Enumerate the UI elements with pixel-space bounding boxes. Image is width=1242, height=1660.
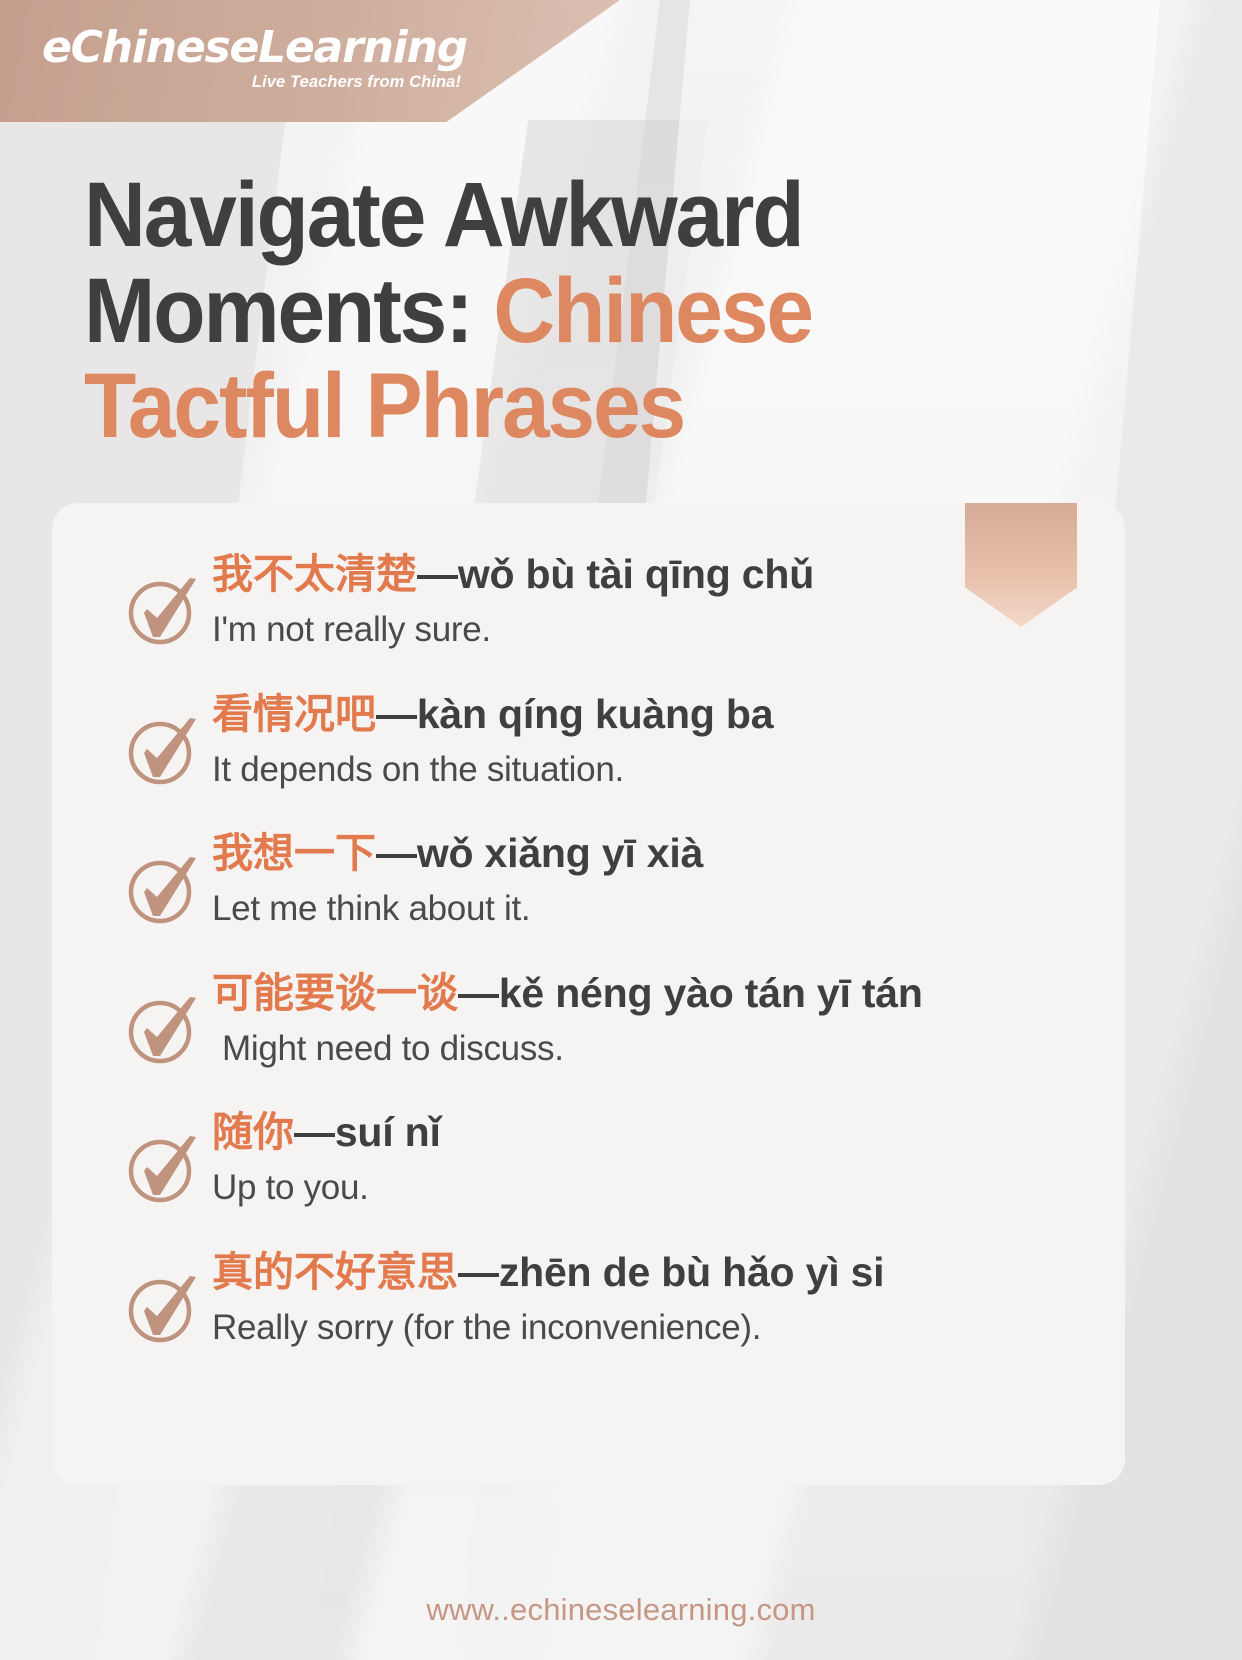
- phrase-translation: Might need to discuss.: [212, 1026, 1125, 1072]
- logo-tagline: Live Teachers from China!: [42, 73, 467, 92]
- phrase-translation: Really sorry (for the inconvenience).: [212, 1305, 1125, 1351]
- list-item-texts: 真的不好意思—zhēn de bù hǎo yì si Really sorry…: [212, 1245, 1125, 1351]
- phrase-line: 真的不好意思—zhēn de bù hǎo yì si: [212, 1247, 1125, 1297]
- list-item: 真的不好意思—zhēn de bù hǎo yì si Really sorry…: [52, 1245, 1125, 1351]
- phrase-dash: —: [376, 830, 417, 876]
- phrase-line: 看情况吧—kàn qíng kuàng ba: [212, 689, 1125, 739]
- phrase-hanzi: 可能要谈一谈: [212, 969, 458, 1017]
- phrases-card: 我不太清楚—wǒ bù tài qīng chǔ I'm not really …: [52, 503, 1125, 1485]
- list-item-texts: 看情况吧—kàn qíng kuàng ba It depends on the…: [212, 687, 1125, 793]
- phrase-hanzi: 我不太清楚: [212, 550, 417, 598]
- check-circle-icon: [124, 842, 202, 928]
- title-line-2: Moments: Chinese: [84, 264, 1014, 360]
- phrase-pinyin: wǒ bù tài qīng chǔ: [458, 551, 814, 597]
- phrases-list: 我不太清楚—wǒ bù tài qīng chǔ I'm not really …: [52, 503, 1125, 1384]
- list-item-texts: 随你—suí nǐ Up to you.: [212, 1105, 1125, 1211]
- title-line-2-plain: Moments:: [84, 260, 493, 362]
- phrase-dash: —: [417, 551, 458, 597]
- check-circle-icon: [124, 982, 202, 1068]
- check-circle-icon: [124, 703, 202, 789]
- phrase-pinyin: kě néng yào tán yī tán: [499, 970, 923, 1016]
- phrase-translation: Let me think about it.: [212, 886, 1125, 932]
- phrase-hanzi: 我想一下: [212, 829, 376, 877]
- page-title: Navigate Awkward Moments: Chinese Tactfu…: [84, 168, 1014, 455]
- title-line-1: Navigate Awkward: [84, 168, 1014, 264]
- phrase-hanzi: 看情况吧: [212, 690, 376, 738]
- phrase-pinyin: zhēn de bù hǎo yì si: [499, 1249, 885, 1295]
- check-circle-icon: [124, 1261, 202, 1347]
- phrase-pinyin: suí nǐ: [335, 1109, 441, 1155]
- list-item: 随你—suí nǐ Up to you.: [52, 1105, 1125, 1211]
- title-line-3: Tactful Phrases: [84, 359, 1014, 455]
- list-item: 看情况吧—kàn qíng kuàng ba It depends on the…: [52, 687, 1125, 793]
- logo-wordmark: eChineseLearning: [42, 26, 467, 70]
- phrase-dash: —: [458, 1249, 499, 1295]
- phrase-dash: —: [376, 691, 417, 737]
- check-circle-icon: [124, 1121, 202, 1207]
- phrase-hanzi: 随你: [212, 1108, 294, 1156]
- phrase-translation: It depends on the situation.: [212, 747, 1125, 793]
- phrase-line: 随你—suí nǐ: [212, 1107, 1125, 1157]
- phrase-line: 我想一下—wǒ xiǎng yī xià: [212, 828, 1125, 878]
- phrase-dash: —: [458, 970, 499, 1016]
- phrase-pinyin: kàn qíng kuàng ba: [417, 691, 774, 737]
- phrase-line: 我不太清楚—wǒ bù tài qīng chǔ: [212, 549, 1125, 599]
- phrase-line: 可能要谈一谈—kě néng yào tán yī tán: [212, 968, 1125, 1018]
- footer-url[interactable]: www..echineselearning.com: [0, 1592, 1242, 1628]
- phrase-dash: —: [294, 1109, 335, 1155]
- check-circle-icon: [124, 563, 202, 649]
- list-item-texts: 可能要谈一谈—kě néng yào tán yī tán Might need…: [212, 966, 1125, 1072]
- phrase-translation: Up to you.: [212, 1165, 1125, 1211]
- list-item-texts: 我想一下—wǒ xiǎng yī xià Let me think about …: [212, 826, 1125, 932]
- phrase-translation: I'm not really sure.: [212, 607, 1125, 653]
- list-item: 我想一下—wǒ xiǎng yī xià Let me think about …: [52, 826, 1125, 932]
- phrase-pinyin: wǒ xiǎng yī xià: [417, 830, 703, 876]
- list-item: 可能要谈一谈—kě néng yào tán yī tán Might need…: [52, 966, 1125, 1072]
- brand-logo: eChineseLearning Live Teachers from Chin…: [42, 26, 467, 92]
- list-item-texts: 我不太清楚—wǒ bù tài qīng chǔ I'm not really …: [212, 547, 1125, 653]
- list-item: 我不太清楚—wǒ bù tài qīng chǔ I'm not really …: [52, 547, 1125, 653]
- phrase-hanzi: 真的不好意思: [212, 1248, 458, 1296]
- title-line-2-accent: Chinese: [493, 260, 812, 362]
